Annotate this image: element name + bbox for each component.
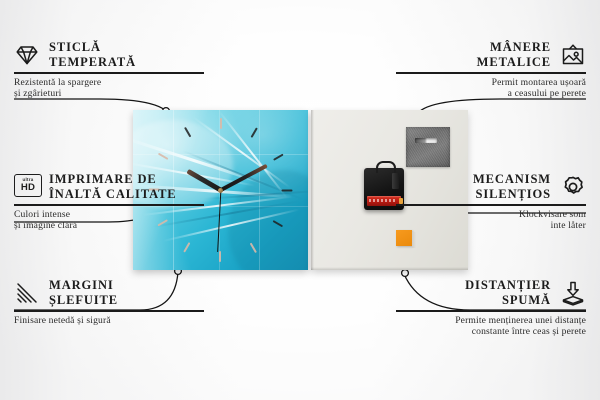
callout-title-line-2: TEMPERATĂ (49, 55, 136, 70)
callout-title-line-1: MECANISM (473, 172, 551, 187)
callout-sub-line-1: Permite menținerea unei distanțe (396, 315, 586, 326)
callout-title-line-1: MÂNERE (477, 40, 551, 55)
callout-title-line-1: STICLĂ (49, 40, 136, 55)
callout-title-line-2: SILENȚIOS (473, 187, 551, 202)
callout-title-line-2: ȘLEFUITE (49, 293, 118, 308)
callout-sub-line-2: constante între ceas și perete (396, 326, 586, 337)
callout-title-line-2: SPUMĂ (465, 293, 551, 308)
hd-label: HD (21, 183, 35, 193)
diamond-icon (14, 42, 40, 68)
callout-sub-line-1: Permit montarea ușoară (396, 77, 586, 88)
callout-rule (396, 310, 586, 312)
callout-sub-line-2: inte låter (396, 220, 586, 231)
callout-rule (14, 310, 204, 312)
press-pad-icon (560, 280, 586, 306)
clock-center-cap (218, 188, 223, 193)
callout-sub-line-2: și zgârieturi (14, 88, 204, 99)
callout-title-line-2: ÎNALTĂ CALITATE (49, 187, 177, 202)
callout-rule (14, 204, 204, 206)
metal-hanger-part (406, 127, 450, 167)
callout-manere-metalice: MÂNERE METALICE Permit montarea ușoară a… (396, 40, 586, 99)
bevelled-edge-icon (14, 280, 40, 306)
callout-sub-line-1: Klockvisare som (396, 209, 586, 220)
picture-frame-hanger-icon (560, 42, 586, 68)
callout-title-line-2: METALICE (477, 55, 551, 70)
foam-spacer-part (396, 230, 412, 246)
leader-line-sticla (14, 99, 165, 110)
callout-margini-slefuite: MARGINI ȘLEFUITE Finisare netedă și sigu… (14, 278, 204, 326)
callout-mecanism-silentios: MECANISM SILENȚIOS Klockvisare som inte … (396, 172, 586, 231)
callout-rule (396, 204, 586, 206)
callout-title-line-1: IMPRIMARE DE (49, 172, 177, 187)
callout-title-line-1: DISTANȚIER (465, 278, 551, 293)
callout-sub-line-1: Culori intense (14, 209, 204, 220)
callout-imprimare-inalta-calitate: ultra HD IMPRIMARE DE ÎNALTĂ CALITATE Cu… (14, 172, 204, 231)
callout-sub-line-1: Rezistentă la spargere (14, 77, 204, 88)
callout-title-line-1: MARGINI (49, 278, 118, 293)
gear-icon (560, 174, 586, 200)
callout-sub-line-2: și imagine clară (14, 220, 204, 231)
callout-sub-line-1: Finisare netedă și sigură (14, 315, 204, 326)
callout-sub-line-2: a ceasului pe perete (396, 88, 586, 99)
callout-rule (14, 72, 204, 74)
infographic-stage: STICLĂ TEMPERATĂ Rezistentă la spargere … (0, 0, 600, 400)
callout-sticla-temperata: STICLĂ TEMPERATĂ Rezistentă la spargere … (14, 40, 204, 99)
callout-rule (396, 72, 586, 74)
ultra-hd-badge-icon: ultra HD (14, 174, 40, 200)
callout-distantier-spuma: DISTANȚIER SPUMĂ Permite menținerea unei… (396, 278, 586, 337)
leader-dot-distantier (402, 270, 409, 277)
